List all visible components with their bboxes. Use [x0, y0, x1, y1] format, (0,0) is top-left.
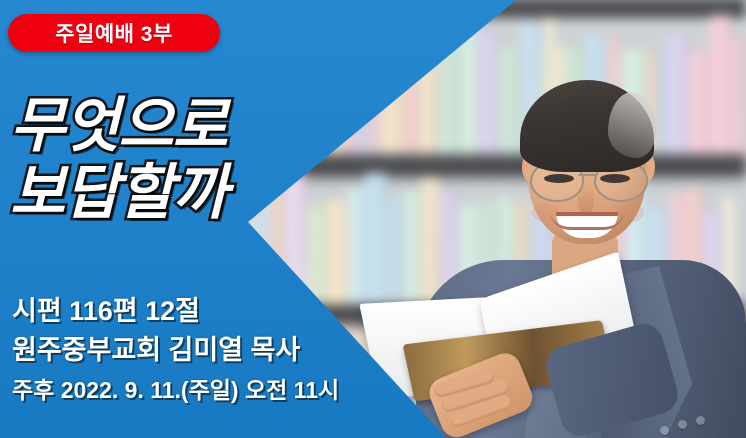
suit-button	[696, 416, 705, 425]
sermon-details: 시편 116편 12절 원주중부교회 김미열 목사 주후 2022. 9. 11…	[12, 292, 442, 409]
book-spine	[404, 189, 420, 304]
hair-highlight	[608, 92, 656, 158]
sermon-banner: 주일예배 3부 무엇으로 보답할까 시편 116편 12절 원주중부교회 김미열…	[0, 0, 746, 438]
glasses-bridge	[578, 174, 596, 176]
sermon-title-line-1: 무엇으로	[10, 92, 310, 159]
suit-button	[678, 420, 687, 429]
book-spine	[348, 187, 364, 304]
book-spine	[365, 173, 387, 304]
speaker-name: 원주중부교회 김미열 목사	[12, 331, 442, 370]
service-datetime: 주후 2022. 9. 11.(주일) 오전 11시	[12, 370, 442, 409]
book-spine	[327, 200, 347, 304]
speaker-portrait	[432, 34, 746, 438]
sermon-title: 무엇으로 보답할까	[10, 92, 310, 226]
service-badge: 주일예배 3부	[8, 14, 220, 52]
scripture-reference: 시편 116편 12절	[12, 292, 442, 331]
book-spine	[388, 197, 403, 304]
service-badge-label: 주일예배 3부	[55, 18, 173, 48]
sermon-title-line-2: 보답할까	[10, 159, 310, 226]
suit-button	[660, 426, 669, 435]
